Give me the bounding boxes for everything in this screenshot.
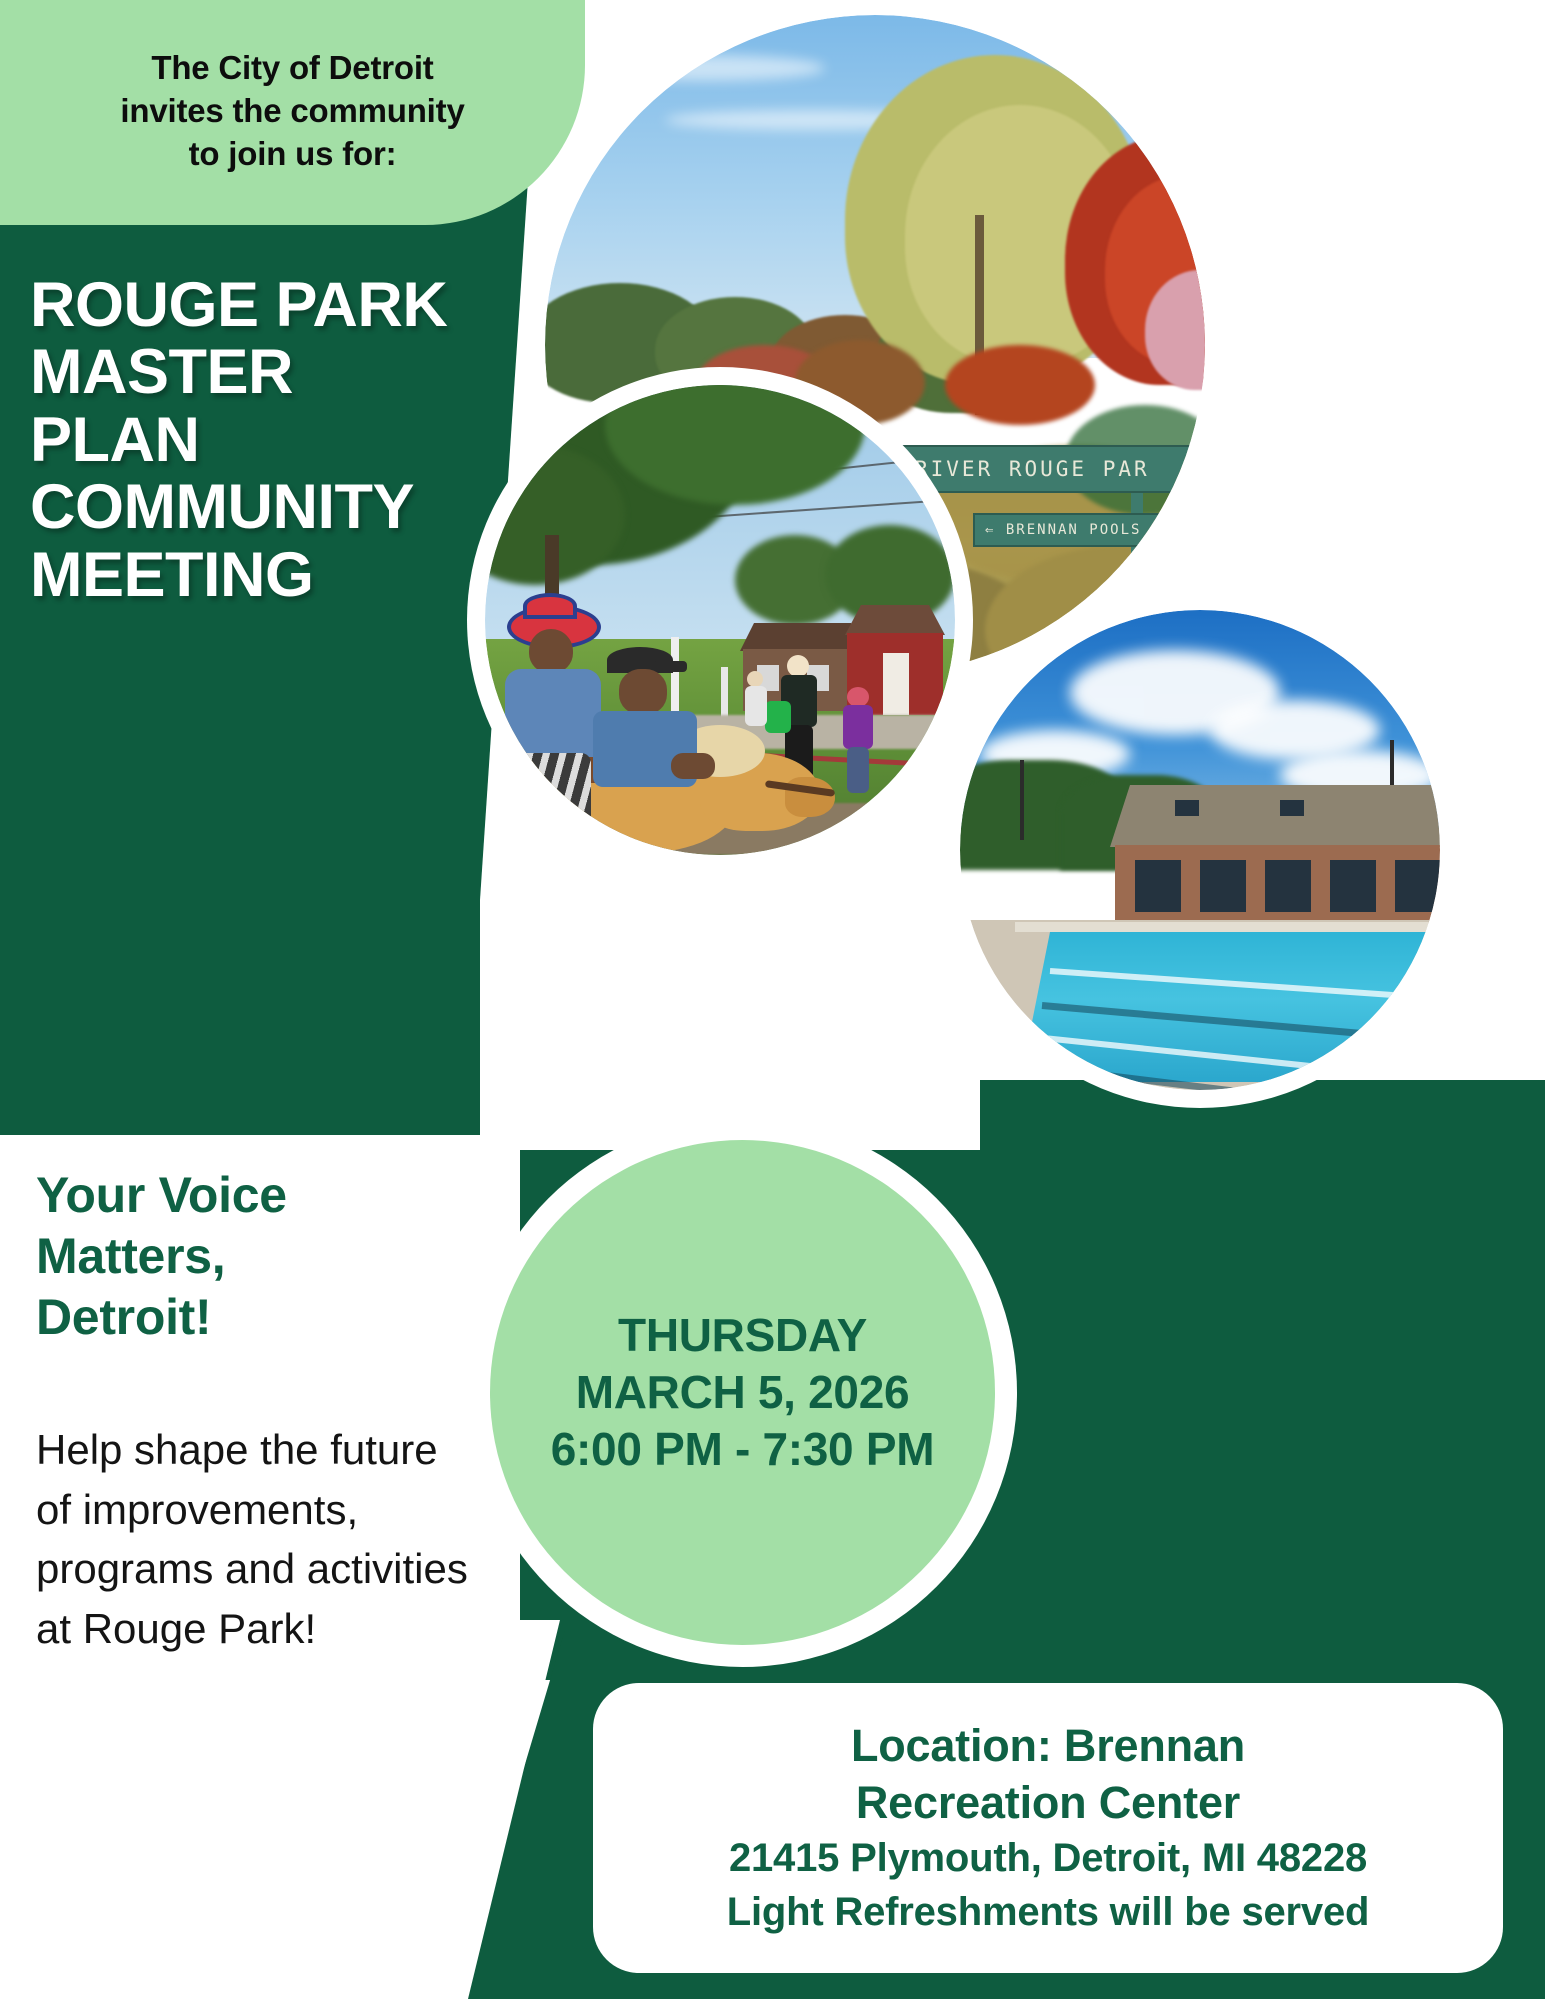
voice-line-1: Your Voice <box>36 1165 466 1226</box>
page-title: ROUGE PARK MASTER PLAN COMMUNITY MEETING <box>30 272 500 609</box>
location-address: 21415 Plymouth, Detroit, MI 48228 <box>729 1832 1367 1886</box>
invite-line-3: to join us for: <box>189 135 397 172</box>
location-box: Location: Brennan Recreation Center 2141… <box>593 1683 1503 1973</box>
photo-horseride-circle <box>485 385 955 855</box>
event-day: THURSDAY <box>618 1307 867 1364</box>
invite-banner: The City of Detroit invites the communit… <box>0 0 585 225</box>
invite-line-1: The City of Detroit <box>151 49 433 86</box>
voice-line-2: Matters, <box>36 1226 466 1287</box>
title-line-3: PLAN <box>30 407 500 474</box>
date-time-circle: THURSDAY MARCH 5, 2026 6:00 PM - 7:30 PM <box>490 1140 995 1645</box>
event-time: 6:00 PM - 7:30 PM <box>551 1421 934 1478</box>
voice-blurb: Help shape the future of improvements, p… <box>36 1420 476 1659</box>
invite-line-2: invites the community <box>120 92 464 129</box>
title-line-4: COMMUNITY <box>30 474 500 541</box>
title-line-1: ROUGE PARK <box>30 272 500 339</box>
title-line-5: MEETING <box>30 542 500 609</box>
event-date: MARCH 5, 2026 <box>576 1364 910 1421</box>
voice-line-3: Detroit! <box>36 1287 466 1348</box>
refreshments-note: Light Refreshments will be served <box>727 1886 1369 1940</box>
location-line-2: Recreation Center <box>856 1774 1240 1832</box>
flyer-poster: The City of Detroit invites the communit… <box>0 0 1545 1999</box>
voice-heading: Your Voice Matters, Detroit! <box>36 1165 466 1348</box>
park-sign-sub: ⇐ BRENNAN POOLS <box>973 513 1205 547</box>
photo-pool-circle <box>960 610 1440 1090</box>
title-line-2: MASTER <box>30 339 500 406</box>
location-line-1: Location: Brennan <box>851 1717 1245 1775</box>
